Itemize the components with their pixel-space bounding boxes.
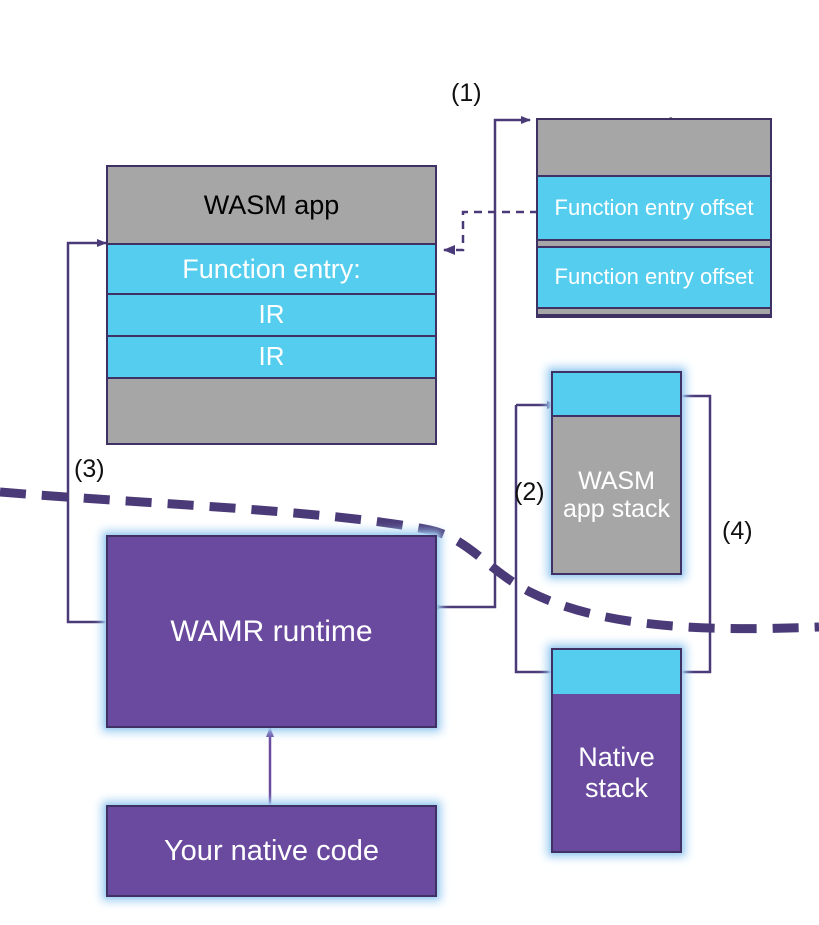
step-label-4: (4) (722, 517, 753, 546)
your-native-code-block[interactable]: Your native code (106, 805, 437, 897)
wasm-app-stack-label-line-1: WASM (578, 467, 655, 495)
native-stack-label-line-2: stack (585, 773, 648, 803)
fit-row-function-entry-offset-1[interactable]: Function entry offset (538, 177, 770, 238)
wamr-runtime-block[interactable]: WAMR runtime (106, 535, 437, 728)
wasm-app-function-entry-row[interactable]: Function entry: (108, 245, 435, 293)
connector-1-wamr-to-index-table (427, 120, 530, 613)
native-stack-body: Native stack (553, 694, 680, 851)
diagram-canvas: Function Index Table Function entry offs… (0, 0, 819, 925)
native-stack-block: Native stack (551, 648, 682, 853)
fit-separator-2 (538, 307, 770, 316)
fit-row-function-entry-offset-2[interactable]: Function entry offset (538, 248, 770, 307)
step-label-1: (1) (451, 79, 482, 108)
wasm-app-block: WASM app Function entry: IR IR (106, 165, 437, 445)
wasm-app-stack-top-band[interactable] (553, 373, 680, 415)
wasm-app-ir-row-1[interactable]: IR (108, 295, 435, 335)
wasm-app-title-band: WASM app (108, 167, 435, 243)
native-stack-label-line-1: Native (578, 742, 655, 772)
wasm-app-stack-body: WASM app stack (553, 417, 680, 573)
wasm-app-ir-row-2[interactable]: IR (108, 337, 435, 377)
wasm-app-row-gray-bottom (108, 379, 435, 443)
native-stack-top-band[interactable] (553, 650, 680, 694)
connector-3-wamr-to-wasm-app (68, 243, 106, 622)
your-native-code-label: Your native code (108, 807, 435, 895)
step-label-2: (2) (514, 478, 545, 507)
fit-row-gray-top (538, 120, 770, 175)
fit-separator-1 (538, 239, 770, 248)
wamr-runtime-label: WAMR runtime (108, 537, 435, 726)
wasm-app-stack-label-line-2: app stack (563, 495, 670, 523)
wasm-app-stack-block: WASM app stack (551, 371, 682, 575)
step-label-3: (3) (74, 455, 105, 484)
function-index-table: Function entry offset Function entry off… (536, 118, 772, 318)
